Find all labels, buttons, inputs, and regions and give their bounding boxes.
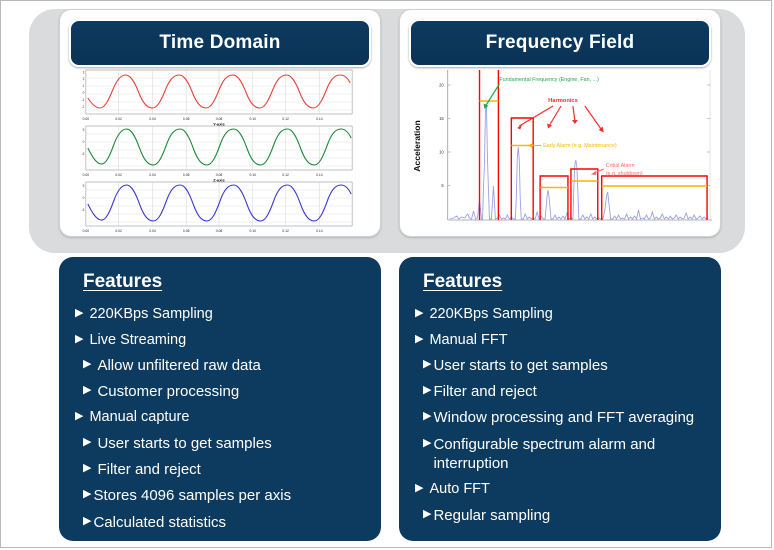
- frequency-field-title: Frequency Field: [409, 19, 711, 67]
- svg-text:0.12: 0.12: [282, 117, 289, 121]
- list-item-label: Regular sampling: [433, 506, 713, 525]
- list-item-label: User starts to get samples: [97, 434, 373, 453]
- svg-text:-1: -1: [82, 98, 85, 102]
- list-item-label: Manual FFT: [429, 331, 713, 350]
- svg-text:0.00: 0.00: [83, 117, 90, 121]
- list-item-label: Manual capture: [89, 408, 373, 427]
- list-item[interactable]: ▶ Filter and reject: [423, 382, 713, 401]
- svg-text:3: 3: [83, 70, 85, 74]
- triangle-bullet-icon: ▶: [423, 408, 431, 425]
- list-item-label: Allow unfiltered raw data: [97, 356, 373, 375]
- list-item[interactable]: ▶ User starts to get samples: [83, 434, 373, 453]
- list-item[interactable]: ▶ 220KBps Sampling: [415, 305, 713, 324]
- list-item[interactable]: ▶ Stores 4096 samples per axis: [83, 486, 373, 505]
- svg-text:5: 5: [83, 184, 85, 188]
- list-item[interactable]: ▶ Live Streaming: [75, 331, 373, 350]
- features-list-right: ▶ 220KBps Sampling ▶ Manual FFT ▶ User s…: [415, 305, 713, 532]
- svg-text:Early Alarm (e.g. Maintenance): Early Alarm (e.g. Maintenance): [543, 143, 617, 149]
- list-item-label: Window processing and FFT averaging: [433, 408, 713, 427]
- svg-text:20: 20: [439, 82, 444, 87]
- triangle-bullet-icon: ▶: [423, 435, 431, 452]
- frequency-field-svg: 20 15 10 5 Acceleration: [404, 68, 716, 232]
- list-item-label: Configurable spectrum alarm and interrup…: [433, 435, 713, 473]
- svg-text:(e.g. shutdown): (e.g. shutdown): [606, 171, 643, 177]
- svg-text:Acceleration: Acceleration: [412, 120, 422, 172]
- svg-text:0.06: 0.06: [183, 173, 190, 177]
- triangle-bullet-icon: ▶: [83, 356, 91, 373]
- svg-text:0: 0: [83, 196, 85, 200]
- triangle-bullet-icon: ▶: [415, 480, 423, 497]
- list-item-label: Auto FFT: [429, 480, 713, 499]
- svg-text:0.08: 0.08: [216, 229, 223, 232]
- svg-text:0: 0: [83, 91, 85, 95]
- svg-text:0.06: 0.06: [183, 229, 190, 232]
- svg-text:0: 0: [83, 140, 85, 144]
- annotation-fundamental-frequency: Fundamental Frequency (Engine, Fan, ...): [483, 77, 599, 109]
- list-item[interactable]: ▶ Regular sampling: [423, 506, 713, 525]
- alarm-band-h2: [540, 176, 568, 220]
- slide-root: Time Domain: [0, 0, 772, 548]
- svg-text:0.04: 0.04: [149, 117, 156, 121]
- list-item-label: Filter and reject: [97, 460, 373, 479]
- triangle-bullet-icon: ▶: [415, 305, 423, 322]
- triangle-bullet-icon: ▶: [423, 382, 431, 399]
- list-item-label: Filter and reject: [433, 382, 713, 401]
- svg-text:0.08: 0.08: [216, 173, 223, 177]
- list-item[interactable]: ▶ Configurable spectrum alarm and interr…: [423, 435, 713, 473]
- frequency-field-card: Frequency Field 20 15 10 5: [399, 9, 721, 237]
- svg-text:0.02: 0.02: [115, 117, 122, 121]
- svg-text:0.04: 0.04: [149, 229, 156, 232]
- svg-text:Harmonics: Harmonics: [548, 98, 578, 104]
- triangle-bullet-icon: ▶: [83, 486, 91, 503]
- svg-text:0.04: 0.04: [149, 173, 156, 177]
- triangle-bullet-icon: ▶: [75, 408, 83, 425]
- svg-text:0.02: 0.02: [115, 229, 122, 232]
- svg-text:-2: -2: [82, 105, 85, 109]
- list-item-label: User starts to get samples: [433, 356, 713, 375]
- svg-text:-5: -5: [82, 208, 85, 212]
- svg-text:0.00: 0.00: [83, 229, 90, 232]
- list-item[interactable]: ▶ Window processing and FFT averaging: [423, 408, 713, 427]
- annotation-harmonics: Harmonics: [517, 98, 603, 133]
- features-title-right: Features: [423, 271, 502, 293]
- svg-text:-5: -5: [82, 152, 85, 156]
- svg-text:0.08: 0.08: [216, 117, 223, 121]
- list-item[interactable]: ▶ Manual capture: [75, 408, 373, 427]
- time-domain-svg: 3 2 1 0 -1 -2 0.00 0.02 0.04 0.06 0.08 0…: [64, 68, 376, 232]
- svg-text:0.06: 0.06: [183, 117, 190, 121]
- svg-text:0.12: 0.12: [282, 229, 289, 232]
- svg-text:0.10: 0.10: [250, 117, 257, 121]
- svg-text:0.14: 0.14: [316, 117, 323, 121]
- svg-text:Fundamental Frequency (Engine,: Fundamental Frequency (Engine, Fan, ...): [499, 77, 599, 83]
- triangle-bullet-icon: ▶: [75, 305, 83, 322]
- svg-text:Critial Alarm: Critial Alarm: [606, 163, 635, 169]
- triangle-bullet-icon: ▶: [415, 331, 423, 348]
- list-item[interactable]: ▶ Manual FFT: [415, 331, 713, 350]
- triangle-bullet-icon: ▶: [75, 331, 83, 348]
- svg-text:10: 10: [439, 149, 444, 154]
- svg-text:2: 2: [83, 77, 85, 81]
- time-domain-title: Time Domain: [69, 19, 371, 67]
- svg-text:0.10: 0.10: [250, 229, 257, 232]
- list-item-label: Calculated statistics: [93, 513, 373, 532]
- svg-text:0.00: 0.00: [83, 173, 90, 177]
- triangle-bullet-icon: ▶: [83, 434, 91, 451]
- svg-text:0.10: 0.10: [250, 173, 257, 177]
- annotation-early-alarm: Early Alarm (e.g. Maintenance): [527, 143, 617, 149]
- features-title-left: Features: [83, 271, 162, 293]
- features-list-left: ▶ 220KBps Sampling ▶ Live Streaming ▶ Al…: [75, 305, 373, 539]
- svg-text:1: 1: [83, 84, 85, 88]
- triangle-bullet-icon: ▶: [423, 356, 431, 373]
- triangle-bullet-icon: ▶: [83, 513, 91, 530]
- features-panel-left: Features ▶ 220KBps Sampling ▶ Live Strea…: [59, 257, 381, 541]
- alarm-band-h3: [571, 169, 598, 220]
- list-item[interactable]: ▶ Filter and reject: [83, 460, 373, 479]
- triangle-bullet-icon: ▶: [83, 460, 91, 477]
- alarm-band-h4: [602, 176, 707, 220]
- list-item-label: Stores 4096 samples per axis: [93, 486, 373, 505]
- list-item[interactable]: ▶ User starts to get samples: [423, 356, 713, 375]
- svg-text:0.14: 0.14: [316, 173, 323, 177]
- list-item[interactable]: ▶ Allow unfiltered raw data: [83, 356, 373, 375]
- features-panel-right: Features ▶ 220KBps Sampling ▶ Manual FFT…: [399, 257, 721, 541]
- svg-text:5: 5: [441, 183, 444, 188]
- list-item[interactable]: ▶ Auto FFT: [415, 480, 713, 499]
- svg-text:0.02: 0.02: [115, 173, 122, 177]
- svg-text:5: 5: [83, 128, 85, 132]
- list-item[interactable]: ▶ Calculated statistics: [83, 513, 373, 532]
- list-item-label: Customer processing: [97, 382, 373, 401]
- alarm-band-h1: [511, 118, 533, 220]
- svg-text:0.12: 0.12: [282, 173, 289, 177]
- triangle-bullet-icon: ▶: [83, 382, 91, 399]
- list-item-label: Live Streaming: [89, 331, 373, 350]
- svg-text:0.14: 0.14: [316, 229, 323, 232]
- frequency-field-plot: 20 15 10 5 Acceleration: [404, 68, 716, 232]
- svg-text:15: 15: [439, 116, 444, 121]
- time-domain-plot: 3 2 1 0 -1 -2 0.00 0.02 0.04 0.06 0.08 0…: [64, 68, 376, 232]
- list-item[interactable]: ▶ Customer processing: [83, 382, 373, 401]
- list-item-label: 220KBps Sampling: [89, 305, 373, 324]
- time-domain-card: Time Domain: [59, 9, 381, 237]
- list-item[interactable]: ▶ 220KBps Sampling: [75, 305, 373, 324]
- annotation-critical-alarm: Critial Alarm (e.g. shutdown): [591, 163, 643, 177]
- triangle-bullet-icon: ▶: [423, 506, 431, 523]
- list-item-label: 220KBps Sampling: [429, 305, 713, 324]
